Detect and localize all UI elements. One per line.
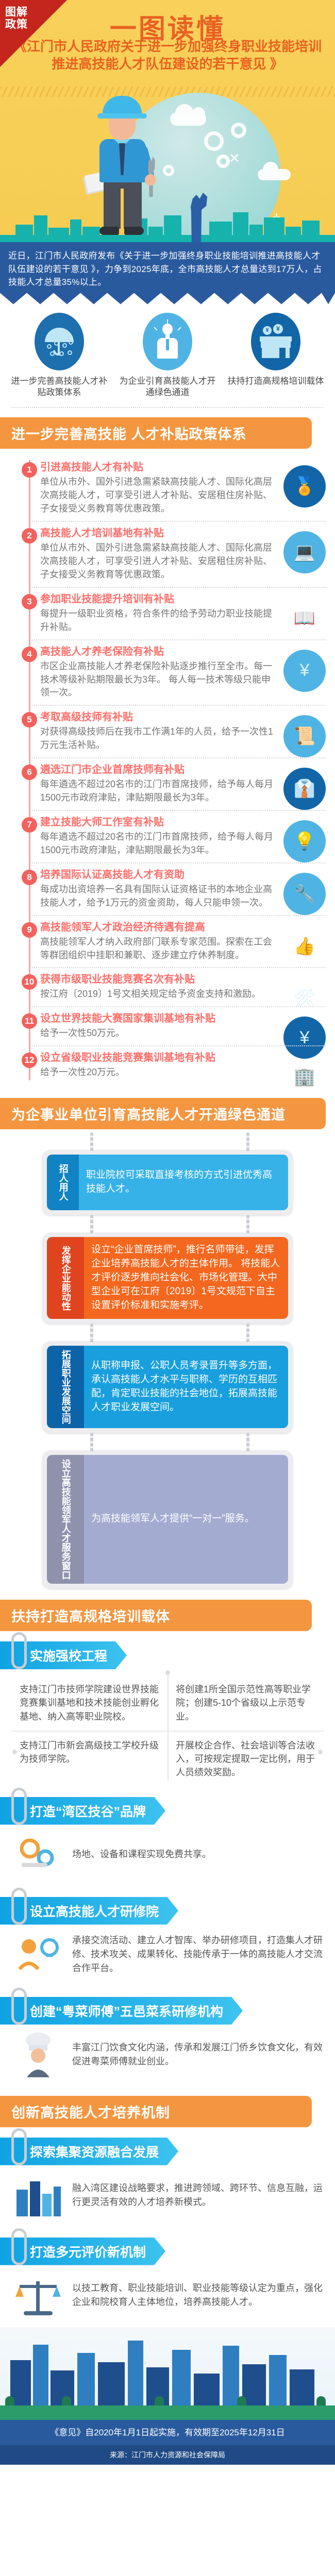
city-icon (11, 2171, 65, 2220)
intro-paragraph: 近日，江门市人民政府发布《关于进一步加强终身职业技能培训推进高技能人才队伍建设的… (0, 242, 335, 293)
item-title: 设立省级职业技能竞赛集训基地有补贴 (40, 1052, 326, 1064)
evaluation-row: 以技工教育、职业技能培训、职业技能等级认定为重点，强化企业和院校育人主体地位，培… (0, 2265, 335, 2327)
hanging-board: 拓展职业发展空间从职称申报、公职人员考录晋升等多方面，承认高技能人才水平与职称、… (42, 1341, 293, 1433)
certificate-icon: 📜 (283, 715, 326, 757)
pillar-label: 扶持打造高规格培训载体 (226, 376, 326, 387)
pillar-item: 为企业引育高技能人才开通绿色通道 (118, 313, 218, 399)
item-title: 高技能人才养老保险有补贴 (40, 646, 326, 658)
brand-group: 打造“湾区技谷”品牌 (7, 1797, 335, 1825)
paperclip-icon (11, 1788, 27, 1825)
grid-cell: 开展校企合作、社会培训等合法收入，可按规定提取一定比例，用于人员绩效奖励。 (167, 1732, 324, 1787)
grid-cell: 支持江门市技师学院建设世界技能竞赛集训基地和技术技能创业孵化基地、纳入高等职业院… (11, 1675, 167, 1732)
section-banner-greenchannel: 为企事业单位引育高技能人才开通绿色通道 (0, 1098, 326, 1129)
item-body: 给予一次性50万元。 (40, 1027, 326, 1040)
shop-coins-icon: ¥¥ (251, 313, 300, 370)
research-text: 承接交流活动、建立人才智库、举办研修项目，打造集人才研修、技术攻关、成果转化、技… (72, 1934, 324, 1975)
list-item: 10获得市级职业技能竞赛名次有补贴按江府〔2019〕1号文相关规定给予资金支持和… (0, 968, 335, 1007)
gear-icon (216, 155, 230, 168)
gear-icon (204, 131, 224, 151)
pillar-item: ¥¥ 扶持打造高规格培训载体 (226, 313, 326, 399)
item-title: 获得市级职业技能竞赛名次有补贴 (40, 973, 326, 986)
research-row: 承接交流活动、建立人才智库、举办研修项目，打造集人才研修、技术攻关、成果转化、技… (0, 1925, 335, 1987)
item-number: 9 (22, 922, 37, 938)
chain-icon (246, 1132, 249, 1153)
brand-text: 场地、设备和课程实现免费共享。 (72, 1848, 211, 1861)
item-body: 给予一次性20万元。 (40, 1066, 326, 1079)
list-item: 5考取高级技师有补贴对获得高级技师后在我市工作满1年的人员，给予一次性1万元生活… (0, 706, 335, 758)
paperclip-icon (11, 1988, 27, 2025)
item-body: 每提升一级职业资格，符合条件的给予劳动力职业技能提升补贴。 (40, 607, 326, 634)
gear-icon (163, 165, 174, 176)
item-number: 2 (22, 528, 37, 544)
list-item: 6遴选江门市企业首席技师有补贴每年遴选不超过20名市的江门市首席技师，给予每人每… (0, 758, 335, 811)
item-title: 建立技能大师工作室有补贴 (40, 816, 326, 829)
hanging-boards: 招人用人职业院校可采取直接考核的方式引进优秀高技能人才。发挥企业能动性设立“企业… (0, 1129, 335, 1590)
item-number: 6 (22, 765, 37, 780)
cloud-icon (170, 112, 206, 126)
ribbon-label: 图解 政策 (5, 6, 28, 31)
item-number: 11 (22, 1013, 37, 1029)
item-number: 4 (22, 647, 37, 662)
infographic-page: 图解 政策 一图读懂 《江门市人民政府关于进一步加强终身职业技能培训推进高技能人… (0, 0, 335, 2465)
pillars-row: 进一步完善高技能人才补贴政策体系 为企业引育高技能人才开通绿色通道 ¥¥ (0, 304, 335, 402)
section-banner-innovation: 创新高技能人才培养机制 (0, 2096, 312, 2127)
grid-cell: 支持江门市新会高级技工学校升级为技师学院。 (11, 1732, 167, 1787)
research-group: 设立高技能人才研修院 (7, 1897, 335, 1925)
corner-ribbon: 图解 政策 (0, 0, 72, 72)
strong-school-group: 实施强校工程 (7, 1641, 335, 1669)
board-wrapper: 设立高技能领军人才服务窗口为高技能领军人才提供“一对一”服务。 (0, 1433, 335, 1588)
list-item: 9高技能领军人才政治经济待遇有提高高技能领军人才纳入政府部门联系专家范围。探索在… (0, 916, 335, 969)
hanging-board: 招人用人职业院校可采取直接考核的方式引进优秀高技能人才。 (42, 1150, 293, 1215)
paperclip-icon (11, 2128, 27, 2165)
chef-group: 创建“粤菜师傅”五邑菜系研修机构 (7, 1997, 335, 2025)
hanging-board: 设立高技能领军人才服务窗口为高技能领军人才提供“一对一”服务。 (42, 1450, 293, 1588)
city-footer-graphic (0, 2327, 335, 2420)
item-body: 每成功出资培养一名具有国际认证资格证书的本地企业高技能人才，给予1万元的资金资助… (40, 883, 326, 910)
list-item: 2高技能人才培训基地有补贴单位从市外、国外引进急需紧缺高技能人才、国际化高层次高… (0, 522, 335, 588)
item-title: 遴选江门市企业首席技师有补贴 (40, 764, 326, 776)
hatch-divider (0, 87, 335, 97)
list-item: 7建立技能大师工作室有补贴每年遴选不超过20名市的江门市首席技师，给予每人每月1… (0, 811, 335, 863)
brand-row: 场地、设备和课程实现免费共享。 (0, 1825, 335, 1887)
item-body: 对获得高级技师后在我市工作满1年的人员，给予一次性1万元生活补贴。 (40, 725, 326, 752)
subsidy-list: 1引进高技能人才有补贴单位从市外、国外引进急需紧缺高技能人才、国际化高层次高技能… (0, 449, 335, 1089)
item-title: 考取高级技师有补贴 (40, 711, 326, 724)
chef-icon (11, 2030, 65, 2079)
list-item: 12设立省级职业技能竞赛集训基地有补贴给予一次性20万元。🏢 (0, 1046, 335, 1086)
item-title: 高技能领军人才政治经济待遇有提高 (40, 921, 326, 934)
board-tab: 设立高技能领军人才服务窗口 (47, 1455, 84, 1584)
resource-row: 融入湾区建设战略要求，推进跨领域、跨环节、信息互融，运行更灵活有效的人才培养新模… (0, 2165, 335, 2227)
thumbs-up-arrow-icon: 👍 (283, 925, 326, 968)
gear-icon (231, 123, 246, 138)
board-tab: 拓展职业发展空间 (47, 1346, 84, 1428)
item-number: 7 (22, 817, 37, 833)
person-certificates-icon: 🏅 (283, 465, 326, 507)
chain-icon (90, 1132, 93, 1153)
chain-icon (246, 1324, 249, 1344)
pillar-label: 为企业引育高技能人才开通绿色通道 (118, 376, 218, 399)
item-number: 5 (22, 712, 37, 727)
paperclip-icon (11, 1888, 27, 1925)
pillar-item: 进一步完善高技能人才补贴政策体系 (9, 313, 110, 399)
worker-wrench-icon: 🔧 (283, 873, 326, 915)
footer-note: 《意见》自2020年1月1日起实施，有效期至2025年12月31日 (0, 2420, 335, 2446)
board-tab: 发挥企业能动性 (47, 1237, 84, 1319)
strong-school-grid: 支持江门市技师学院建设世界技能竞赛集训基地和技术技能创业孵化基地、纳入高等职业院… (0, 1669, 335, 1787)
worker-illustration (90, 96, 157, 241)
grid-cell: 将创建1所全国示范性高等职业学院；创建5-10个省级以上示范专业。 (167, 1675, 324, 1732)
book-person-icon: 📖 (283, 597, 326, 639)
cloud-icon (258, 169, 291, 180)
skyline-graphic (0, 206, 335, 242)
item-number: 10 (22, 974, 37, 990)
chef-text: 丰富江门饮食文化内涵，传承和发展江门侨乡饮食文化，有效促进粤菜师傅就业创业。 (72, 2041, 324, 2069)
item-body: 单位从市外、国外引进急需紧缺高技能人才、国际化高层次高技能人才，可享受引进人才补… (40, 476, 326, 516)
divider (11, 407, 324, 408)
item-title: 设立世界技能大赛国家集训基地有补贴 (40, 1012, 326, 1025)
board-text: 从职称申报、公职人员考录晋升等多方面，承认高技能人才水平与职称、学历的互相匹配，… (84, 1346, 288, 1428)
list-item: 11设立世界技能大赛国家集训基地有补贴给予一次性50万元。¥ (0, 1007, 335, 1046)
group-tag-chef: 创建“粤菜师傅”五邑菜系研修机构 (0, 1997, 243, 2025)
person-tie-icon: 👔 (283, 768, 326, 810)
paperclip-icon (11, 1632, 27, 1669)
item-title: 高技能人才培训基地有补贴 (40, 527, 326, 540)
hanging-board: 发挥企业能动性设立“企业首席技师”，推行名师带徒，发挥企业培养高技能人才的主体作… (42, 1232, 293, 1324)
ribbon-line-1: 图解 (5, 6, 28, 19)
zigzag-divider (0, 293, 335, 304)
chain-icon (90, 1433, 93, 1453)
section-banner-carrier: 扶持打造高规格培训载体 (0, 1600, 312, 1631)
item-title: 培养国际认证高技能人才有资助 (40, 869, 326, 882)
hands-idea-icon (11, 1930, 65, 1979)
lightbulb-person-icon (143, 313, 192, 370)
board-text: 为高技能领军人才提供“一对一”服务。 (84, 1455, 288, 1584)
list-item: 3参加职业技能提升培训有补贴每提升一级职业资格，符合条件的给予劳动力职业技能提升… (0, 588, 335, 640)
board-text: 职业院校可采取直接考核的方式引进优秀高技能人才。 (79, 1155, 288, 1210)
evaluation-group: 打造多元评价新机制 (7, 2238, 335, 2265)
pillar-label: 进一步完善高技能人才补贴政策体系 (9, 376, 110, 399)
person-desk-icon: 💻 (283, 531, 326, 573)
board-wrapper: 拓展职业发展空间从职称申报、公职人员考录晋升等多方面，承认高技能人才水平与职称、… (0, 1324, 335, 1433)
paperclip-icon (11, 2228, 27, 2265)
chain-icon (90, 1324, 93, 1344)
board-wrapper: 发挥企业能动性设立“企业首席技师”，推行名师带徒，发挥企业培养高技能人才的主体作… (0, 1215, 335, 1324)
umbrella-coins-icon (35, 313, 84, 370)
footer-source: 来源：江门市人力资源和社会保障局 (0, 2445, 335, 2465)
item-body: 高技能领军人才纳入政府部门联系专家范围。探索在工会等群团组织中挂职和兼职、逐步建… (40, 936, 326, 962)
cross-icon: ✕ (229, 150, 240, 166)
page-header: 图解 政策 一图读懂 《江门市人民政府关于进一步加强终身职业技能培训推进高技能人… (0, 0, 335, 242)
board-text: 设立“企业首席技师”，推行名师带徒，发挥企业培养高技能人才的主体作用。 将技能人… (84, 1237, 288, 1319)
item-body: 市区企业高技能人才养老保险补贴逐步推行至全市。每一技术等级补贴期限最长为3年。 … (40, 660, 326, 700)
board-tab: 招人用人 (47, 1155, 79, 1210)
building-icon: 🏢 (283, 1056, 326, 1098)
item-body: 每年遴选不超过20名市的江门市首席技师，给予每人每月1500元市政府津贴，津贴期… (40, 831, 326, 857)
resource-text: 融入湾区建设战略要求，推进跨领域、跨环节、信息互融，运行更灵活有效的人才培养新模… (72, 2181, 324, 2209)
gear-brand-icon (11, 1830, 65, 1879)
item-number: 1 (22, 462, 37, 478)
list-item: 1引进高技能人才有补贴单位从市外、国外引进急需紧缺高技能人才、国际化高层次高技能… (0, 456, 335, 522)
item-number: 12 (22, 1053, 37, 1068)
item-title: 引进高技能人才有补贴 (40, 461, 326, 474)
item-number: 3 (22, 594, 37, 609)
section-banner-subsidy: 进一步完善高技能 人才补贴政策体系 (0, 417, 312, 449)
item-body: 每年遴选不超过20名市的江门市首席技师，给予每人每月1500元市政府津贴，津贴期… (40, 778, 326, 805)
list-item: 4高技能人才养老保险有补贴市区企业高技能人才养老保险补贴逐步推行至全市。每一技术… (0, 640, 335, 706)
board-wrapper: 招人用人职业院校可采取直接考核的方式引进优秀高技能人才。 (0, 1132, 335, 1215)
item-body: 按江府〔2019〕1号文相关规定给予资金支持和激励。 (40, 988, 326, 1001)
chain-icon (90, 1215, 93, 1235)
list-item: 8培养国际认证高技能人才有资助每成功出资培养一名具有国际认证资格证书的本地企业高… (0, 863, 335, 916)
resource-group: 探索集聚资源融合发展 (7, 2138, 335, 2165)
item-body: 单位从市外、国外引进急需紧缺高技能人才、国际化高层次高技能人才，可享受引进人才补… (40, 541, 326, 582)
evaluation-text: 以技工教育、职业技能培训、职业技能等级认定为重点，强化企业和院校育人主体地位，培… (72, 2281, 324, 2309)
lightbulb-person-icon: 💡 (283, 820, 326, 862)
chain-icon (246, 1215, 249, 1235)
ribbon-line-2: 政策 (5, 19, 28, 31)
chain-icon (246, 1433, 249, 1453)
balance-icon (11, 2270, 65, 2320)
item-title: 参加职业技能提升培训有补贴 (40, 593, 326, 606)
chef-row: 丰富江门饮食文化内涵，传承和发展江门侨乡饮食文化，有效促进粤菜师傅就业创业。 (0, 2025, 335, 2087)
item-number: 8 (22, 870, 37, 885)
money-bag-icon: ¥ (283, 650, 326, 692)
